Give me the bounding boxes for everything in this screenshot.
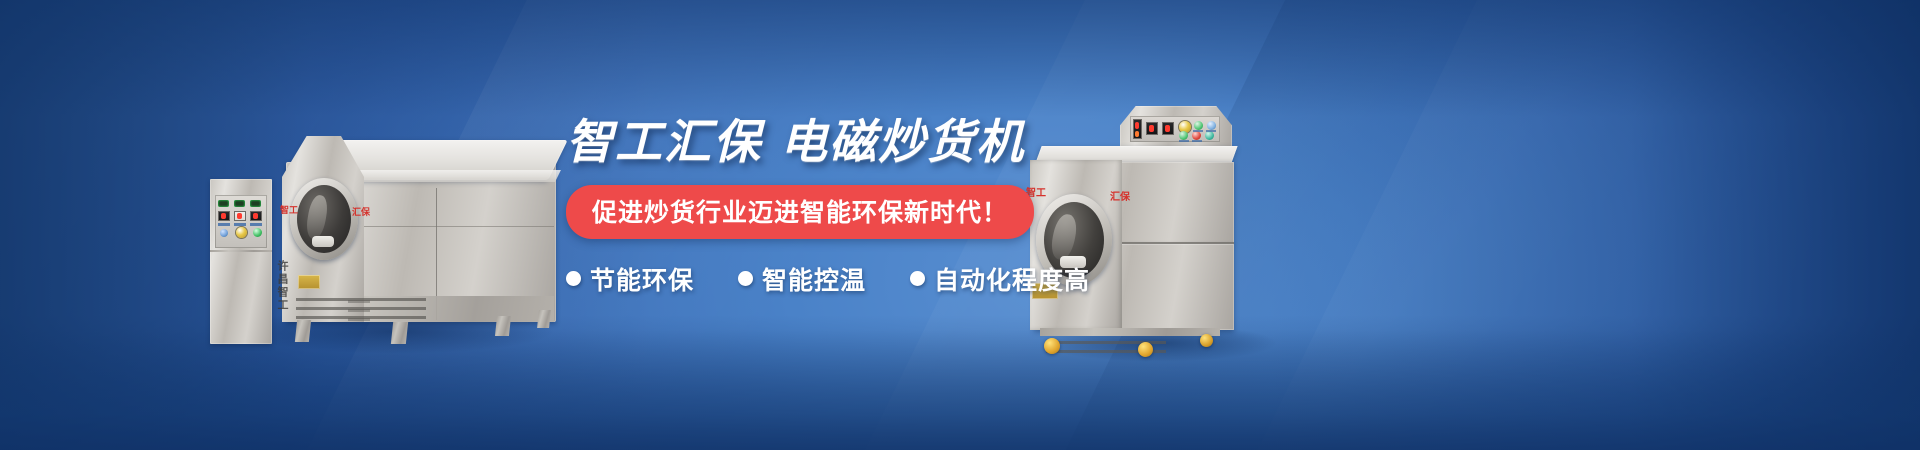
digital-display-3 <box>250 211 262 221</box>
warning-badge <box>298 275 320 289</box>
subtitle-wrap: 促进炒货行业迈进智能环保新时代！ <box>566 185 1036 239</box>
panel-label <box>250 223 262 226</box>
panel-label <box>1179 140 1189 142</box>
digital-display-1 <box>1133 119 1142 139</box>
selector-switch-left[interactable] <box>220 229 228 237</box>
feature-label: 智能控温 <box>762 261 866 297</box>
button-run[interactable] <box>1207 121 1216 130</box>
digital-display-1 <box>218 211 230 221</box>
roaster-machine-right: 智工 汇保 <box>1020 88 1300 360</box>
cabinet-side-text: 许昌智工 <box>272 260 290 312</box>
panel-label <box>1192 140 1202 142</box>
digit-led <box>1135 131 1139 137</box>
promo-banner: 智工 汇保 许昌智工 <box>0 0 1920 450</box>
feature-list: 节能环保 智能控温 自动化程度高 <box>566 261 1036 297</box>
machine-leg <box>391 322 408 344</box>
digital-display-2 <box>1146 122 1158 135</box>
panel-label <box>234 223 246 226</box>
panel-label <box>1206 130 1216 132</box>
control-panel-right <box>1130 116 1220 142</box>
button-cool[interactable] <box>1205 131 1214 140</box>
caster-wheel <box>1200 334 1213 347</box>
machine-leg <box>295 320 311 342</box>
roaster-machine-left: 智工 汇保 许昌智工 <box>196 100 566 350</box>
digit-led <box>1149 125 1154 132</box>
button-heat[interactable] <box>1179 131 1188 140</box>
bullet-dot-icon <box>910 271 925 286</box>
cabinet-seam <box>210 250 272 252</box>
bullet-dot-icon <box>738 271 753 286</box>
page-title: 智工汇保电磁炒货机 <box>566 118 1036 169</box>
subtitle-badge: 促进炒货行业迈进智能环保新时代！ <box>566 185 1034 239</box>
feature-label: 节能环保 <box>590 261 694 297</box>
machine-base-rail <box>1040 328 1220 336</box>
headline-part-2: 电磁炒货机 <box>780 115 1025 170</box>
digit-led <box>221 213 226 219</box>
headline-part-1: 智工汇保 <box>566 115 762 170</box>
feature-item-automation: 自动化程度高 <box>910 261 1090 297</box>
ventilation-grill <box>348 300 370 322</box>
digit-led <box>1135 122 1139 129</box>
meter-display-2 <box>234 200 245 207</box>
button-start[interactable] <box>1194 121 1203 130</box>
machine-leg <box>495 316 511 336</box>
machine-leg <box>537 310 551 328</box>
meter-display-3 <box>250 200 261 207</box>
feature-label: 自动化程度高 <box>934 261 1090 297</box>
button-stop[interactable] <box>1192 131 1201 140</box>
panel-label <box>1193 130 1203 132</box>
caster-wheel <box>1138 342 1153 357</box>
digit-led <box>237 213 242 219</box>
banner-copy: 智工汇保电磁炒货机 促进炒货行业迈进智能环保新时代！ 节能环保 智能控温 自动化… <box>566 118 1036 297</box>
emergency-stop-knob-left[interactable] <box>236 227 247 238</box>
caster-wheel <box>1044 338 1060 354</box>
digit-led <box>1165 125 1170 132</box>
brand-mark-left-2: 汇保 <box>352 205 370 218</box>
meter-display-1 <box>218 200 229 207</box>
digital-display-3 <box>1162 122 1174 135</box>
brand-mark-right-2: 汇保 <box>1110 188 1130 203</box>
panel-label <box>218 223 230 226</box>
brand-mark-left-1: 智工 <box>280 203 298 216</box>
power-indicator-left <box>253 228 262 237</box>
feature-item-energy-saving: 节能环保 <box>566 261 694 297</box>
control-panel-left <box>215 195 267 248</box>
digit-led <box>253 213 258 219</box>
drum-tray <box>312 236 334 247</box>
feature-item-smart-temperature: 智能控温 <box>738 261 866 297</box>
digital-display-2 <box>234 211 246 221</box>
bullet-dot-icon <box>566 271 581 286</box>
